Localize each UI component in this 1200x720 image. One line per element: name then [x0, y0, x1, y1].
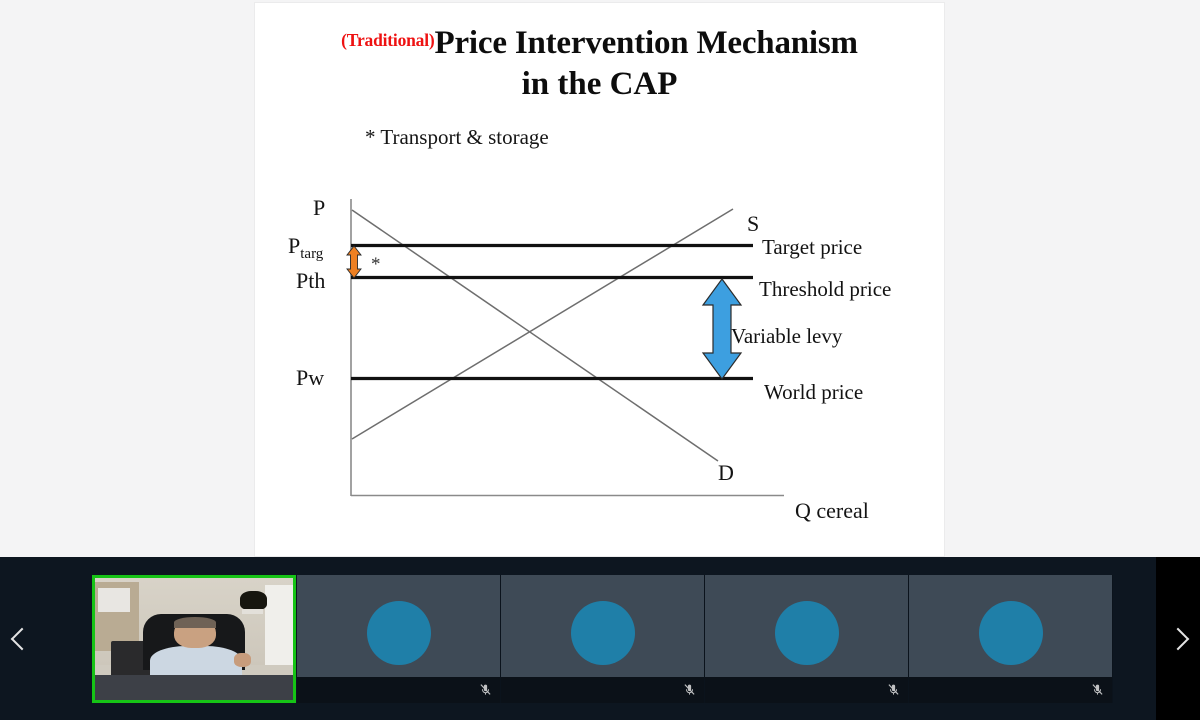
asterisk-marker: *	[371, 254, 381, 275]
diagram-svg: P Ptarg Pth Pw S D Q cereal Target price…	[255, 3, 944, 556]
avatar	[775, 601, 839, 665]
ptarg-base: P	[288, 233, 300, 258]
tile-footer	[909, 677, 1112, 703]
y-axis-label: P	[313, 195, 325, 220]
price-intervention-diagram: P Ptarg Pth Pw S D Q cereal Target price…	[255, 3, 944, 556]
world-price-label: World price	[764, 380, 863, 404]
avatar	[571, 601, 635, 665]
x-axis-label: Q cereal	[795, 498, 869, 523]
webcam-plant-pot	[242, 609, 264, 614]
participant-filmstrip	[0, 557, 1200, 720]
participant-tiles	[44, 557, 1156, 720]
pw-label: Pw	[296, 365, 324, 390]
shared-screen-stage: (Traditional)Price Intervention Mechanis…	[0, 0, 1200, 557]
webcam-person-hair	[174, 617, 216, 628]
target-price-label: Target price	[762, 235, 862, 259]
supply-curve-label: S	[747, 211, 759, 236]
ptarg-label: Ptarg	[288, 233, 324, 262]
tile-footer	[501, 677, 704, 703]
webcam-plant	[240, 591, 268, 611]
microphone-muted-icon	[479, 681, 492, 698]
microphone-muted-icon	[1091, 681, 1104, 698]
variable-levy-label: Variable levy	[731, 324, 843, 348]
avatar	[367, 601, 431, 665]
webcam-desk	[95, 675, 293, 699]
participant-tile[interactable]	[501, 575, 705, 703]
tile-footer	[297, 677, 500, 703]
participant-tile[interactable]	[297, 575, 501, 703]
ptarg-subscript: targ	[300, 246, 324, 262]
supply-curve	[352, 209, 733, 439]
tile-gap-left	[44, 575, 92, 703]
microphone-muted-icon	[683, 681, 696, 698]
webcam-window	[265, 585, 293, 666]
webcam-person-hand	[234, 653, 252, 666]
presentation-slide: (Traditional)Price Intervention Mechanis…	[255, 3, 944, 556]
filmstrip-next-button[interactable]	[1156, 557, 1200, 720]
chevron-right-icon	[1167, 627, 1190, 650]
participant-tile[interactable]	[705, 575, 909, 703]
participant-tile[interactable]	[909, 575, 1113, 703]
participant-tile-active-speaker[interactable]	[92, 575, 296, 703]
threshold-price-label: Threshold price	[759, 277, 891, 301]
transport-storage-arrow	[347, 246, 361, 278]
microphone-muted-icon	[887, 681, 900, 698]
chevron-left-icon	[11, 627, 34, 650]
tile-footer	[705, 677, 908, 703]
webcam-video	[95, 578, 293, 700]
demand-curve	[352, 210, 718, 461]
demand-curve-label: D	[718, 460, 734, 485]
pth-label: Pth	[296, 268, 325, 293]
filmstrip-prev-button[interactable]	[0, 557, 44, 720]
webcam-shelf-items	[98, 588, 130, 613]
avatar	[979, 601, 1043, 665]
